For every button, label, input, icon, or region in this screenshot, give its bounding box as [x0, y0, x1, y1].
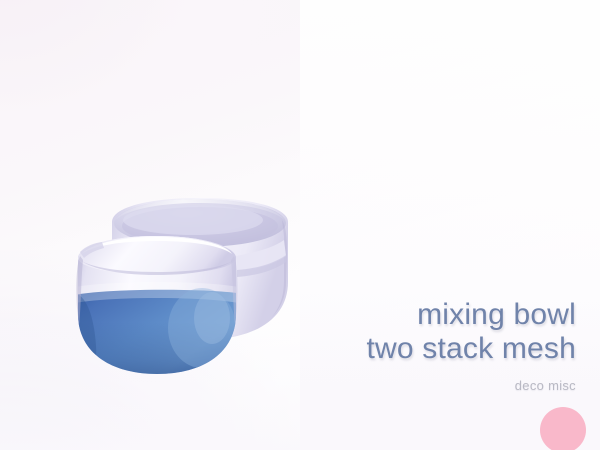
category-subtitle: deco misc: [156, 377, 576, 395]
title-line-2: two stack mesh: [156, 332, 576, 366]
preview-card: mixing bowl two stack mesh deco misc: [0, 0, 600, 450]
title-line-1: mixing bowl: [156, 298, 576, 332]
caption-block: mixing bowl two stack mesh deco misc: [156, 298, 576, 395]
background-pink-corner-wash: [0, 0, 290, 200]
pink-circle-marker: [540, 407, 586, 450]
